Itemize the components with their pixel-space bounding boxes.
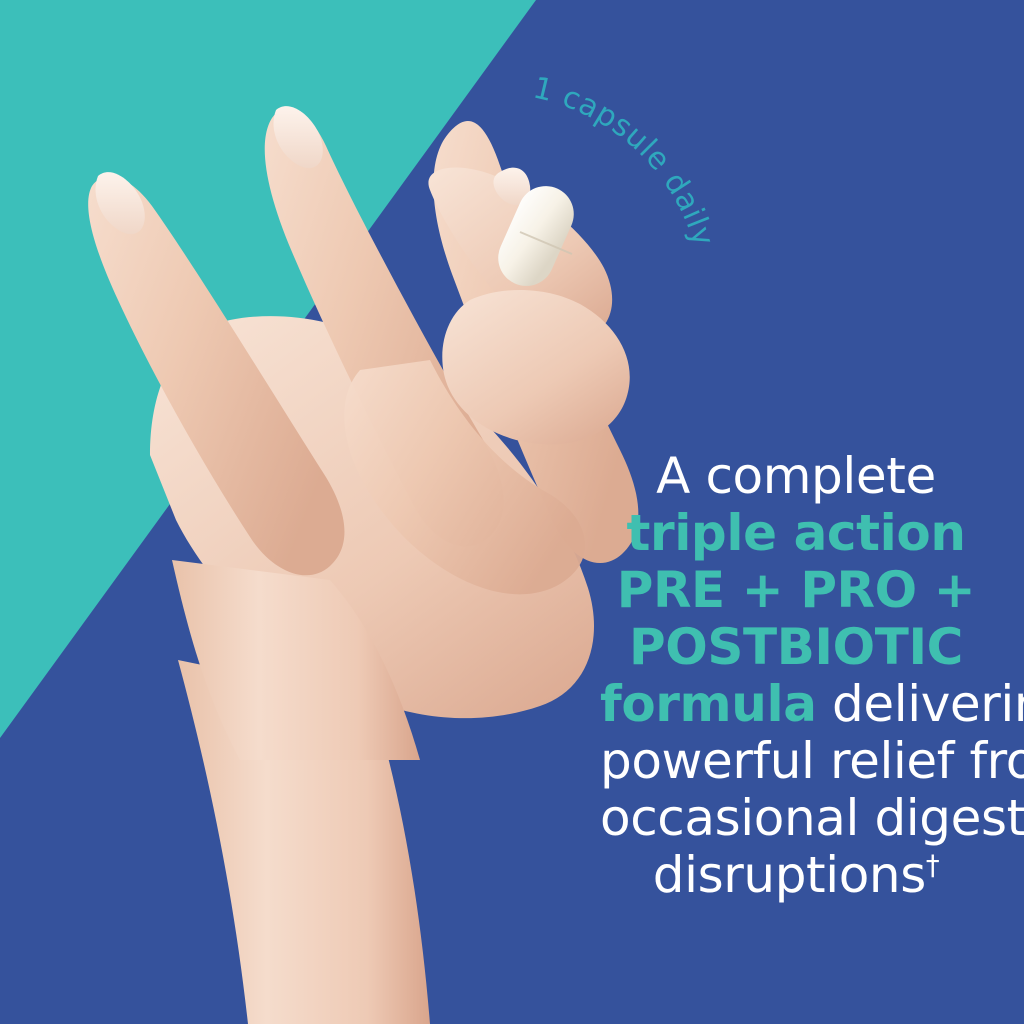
copy-line-7: disruptions† <box>600 847 992 904</box>
copy-line-0: A complete <box>600 448 992 505</box>
copy-line-7-text: disruptions <box>653 846 926 904</box>
copy-line-5: powerful relief from <box>600 733 992 790</box>
copy-line-4-accent: formula <box>600 675 817 733</box>
marketing-copy-block: A complete triple action PRE + PRO + POS… <box>600 448 992 904</box>
copy-line-4: formula delivering <box>600 676 992 733</box>
copy-line-2: PRE + PRO + <box>600 562 992 619</box>
copy-line-4-plain: delivering <box>817 675 1024 733</box>
promotional-graphic: 1 capsule daily A complete triple action… <box>0 0 1024 1024</box>
copy-line-6: occasional digestive <box>600 790 992 847</box>
footnote-dagger: † <box>926 849 939 881</box>
copy-line-1: triple action <box>600 505 992 562</box>
copy-line-3: POSTBIOTIC <box>600 619 992 676</box>
